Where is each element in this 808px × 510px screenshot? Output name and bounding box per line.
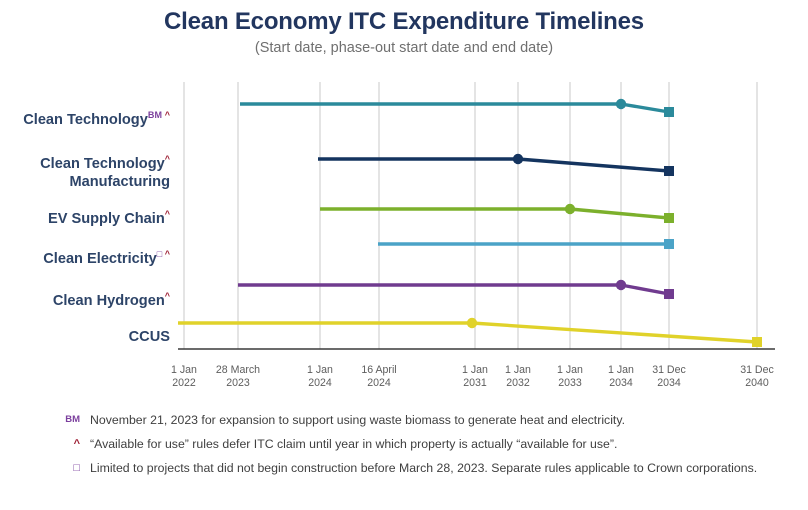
end-date-marker xyxy=(664,166,674,176)
series-phaseout-segment xyxy=(621,285,669,294)
x-tick-line1: 16 April xyxy=(361,364,396,376)
footnote-marker: □ xyxy=(0,460,80,476)
end-date-marker xyxy=(664,107,674,117)
x-axis-tick-label: 31 Dec2040 xyxy=(697,364,808,389)
series-phaseout-segment xyxy=(621,104,669,112)
series-clean-technology xyxy=(240,99,674,117)
series-phaseout-segment xyxy=(518,159,669,171)
x-tick-line1: 31 Dec xyxy=(740,364,774,376)
phase-out-start-marker xyxy=(467,318,477,328)
footnote-marker: ^ xyxy=(0,436,80,452)
footnote-marker: BM xyxy=(0,412,80,428)
x-tick-line1: 28 March xyxy=(216,364,260,376)
footnote: □Limited to projects that did not begin … xyxy=(0,460,808,484)
end-date-marker xyxy=(664,213,674,223)
end-date-marker xyxy=(664,239,674,249)
footnote: BMNovember 21, 2023 for expansion to sup… xyxy=(0,412,808,436)
x-tick-line1: 31 Dec xyxy=(652,364,686,376)
footnote-list: BMNovember 21, 2023 for expansion to sup… xyxy=(0,412,808,484)
chart-series-group xyxy=(178,99,762,347)
series-phaseout-segment xyxy=(570,209,669,218)
x-tick-line2: 2040 xyxy=(697,377,808,390)
footnote: ^“Available for use” rules defer ITC cla… xyxy=(0,436,808,460)
series-phaseout-segment xyxy=(472,323,757,342)
chart-page: Clean Economy ITC Expenditure Timelines … xyxy=(0,0,808,510)
series-clean-hydrogen xyxy=(238,280,674,299)
phase-out-start-marker xyxy=(616,99,626,109)
phase-out-start-marker xyxy=(616,280,626,290)
phase-out-start-marker xyxy=(513,154,523,164)
end-date-marker xyxy=(664,289,674,299)
series-clean-electricity xyxy=(378,239,674,249)
footnote-text: November 21, 2023 for expansion to suppo… xyxy=(90,413,625,427)
series-ccus xyxy=(178,318,762,347)
footnote-text: Limited to projects that did not begin c… xyxy=(90,461,757,475)
phase-out-start-marker xyxy=(565,204,575,214)
footnote-text: “Available for use” rules defer ITC clai… xyxy=(90,437,617,451)
end-date-marker xyxy=(752,337,762,347)
